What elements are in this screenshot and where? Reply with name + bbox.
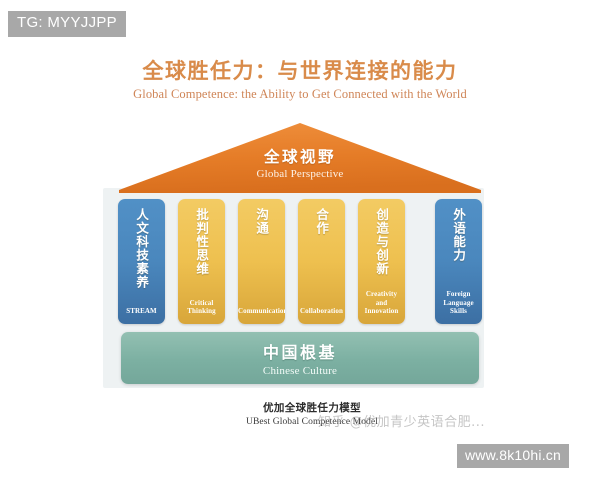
page-title: 全球胜任力：与世界连接的能力 Global Competence: the Ab… xyxy=(0,58,600,102)
foundation-label-cn: 中国根基 xyxy=(263,339,337,363)
pillar-label-en: CreativityandInnovation xyxy=(358,290,405,316)
foundation-bar[interactable]: 中国根基 Chinese Culture xyxy=(121,332,479,384)
page-title-en: Global Competence: the Ability to Get Co… xyxy=(0,87,600,102)
pillar-label-cn: 外语能力 xyxy=(451,208,466,262)
pillar-label-en: CriticalThinking xyxy=(178,299,225,317)
pillar-label-cn: 人文科技素养 xyxy=(134,208,149,289)
pillar-label-cn: 沟通 xyxy=(254,208,269,235)
pillar-label-cn: 合作 xyxy=(314,208,329,235)
diagram-canvas: TG: MYYJJPP 全球胜任力：与世界连接的能力 Global Compet… xyxy=(0,0,600,480)
pillar-communication[interactable]: 沟通 Communication xyxy=(238,199,285,324)
pillar-stream[interactable]: 人文科技素养 STREAM xyxy=(118,199,165,324)
telegram-watermark: TG: MYYJJPP xyxy=(8,11,126,37)
roof-shape xyxy=(118,122,482,194)
pillar-label-en: ForeignLanguageSkills xyxy=(435,290,482,316)
pillar-creativity-innovation[interactable]: 创造与创新 CreativityandInnovation xyxy=(358,199,405,324)
zhihu-watermark: 知乎 @优加青少英语合肥... xyxy=(318,411,485,430)
pillar-collaboration[interactable]: 合作 Collaboration xyxy=(298,199,345,324)
pillar-foreign-language[interactable]: 外语能力 ForeignLanguageSkills xyxy=(435,199,482,324)
pillar-label-en: Collaboration xyxy=(298,307,345,316)
pillar-label-cn: 创造与创新 xyxy=(374,208,389,276)
page-title-cn: 全球胜任力：与世界连接的能力 xyxy=(0,58,600,84)
pillar-label-cn: 批判性思维 xyxy=(194,208,209,276)
url-watermark: www.8k10hi.cn xyxy=(457,444,569,468)
foundation-label-en: Chinese Culture xyxy=(263,365,337,377)
pillar-critical-thinking[interactable]: 批判性思维 CriticalThinking xyxy=(178,199,225,324)
pillar-group: 人文科技素养 STREAM 批判性思维 CriticalThinking 沟通 … xyxy=(118,199,482,324)
pillar-label-en: Communication xyxy=(238,307,285,316)
pillar-label-en: STREAM xyxy=(118,307,165,316)
